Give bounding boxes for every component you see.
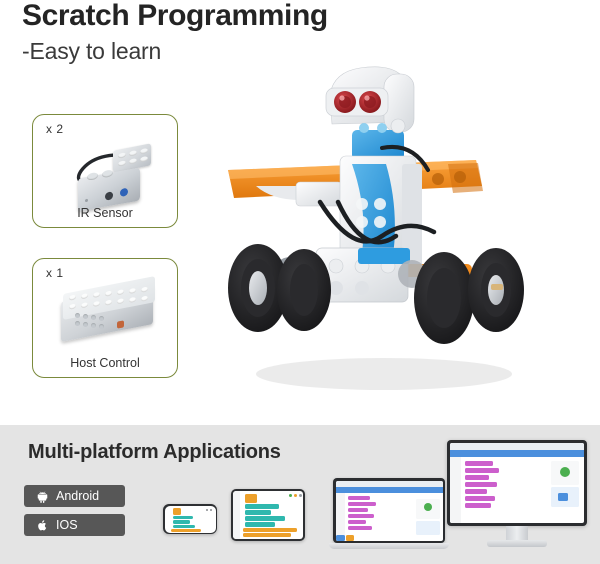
ir-sensor-body xyxy=(78,168,140,212)
product-infographic: Scratch Programming -Easy to learn x 2 xyxy=(0,0,600,564)
part-label: IR Sensor xyxy=(33,206,177,220)
robot-wheel-rear-right xyxy=(468,248,524,332)
ir-sensor-icon xyxy=(33,137,177,203)
tablet-mockup xyxy=(231,489,305,541)
part-label: Host Control xyxy=(33,356,177,370)
robot-illustration xyxy=(212,52,552,407)
laptop-mockup xyxy=(329,478,449,556)
scratch-robot-image xyxy=(212,52,552,407)
hero-section: Scratch Programming -Easy to learn x 2 xyxy=(0,0,600,425)
part-card-ir-sensor: x 2 xyxy=(32,114,178,228)
robot-wheel-rear-left xyxy=(277,249,331,331)
badge-label: IOS xyxy=(56,519,78,532)
android-icon xyxy=(36,490,49,503)
robot-wheel-front-right xyxy=(414,252,474,344)
page-subtitle: -Easy to learn xyxy=(22,36,161,66)
apple-icon xyxy=(36,519,49,532)
platform-badge-ios[interactable]: IOS xyxy=(24,514,125,536)
desktop-mockup xyxy=(447,440,587,550)
page-title: Scratch Programming xyxy=(22,0,328,34)
phone-mockup xyxy=(163,504,217,534)
part-quantity: x 2 xyxy=(46,122,64,136)
badge-label: Android xyxy=(56,490,99,503)
part-card-host-control: x 1 xyxy=(32,258,178,378)
section-title: Multi-platform Applications xyxy=(28,441,281,464)
part-quantity: x 1 xyxy=(46,266,64,280)
platform-badge-android[interactable]: Android xyxy=(24,485,125,507)
host-control-icon xyxy=(33,281,177,353)
